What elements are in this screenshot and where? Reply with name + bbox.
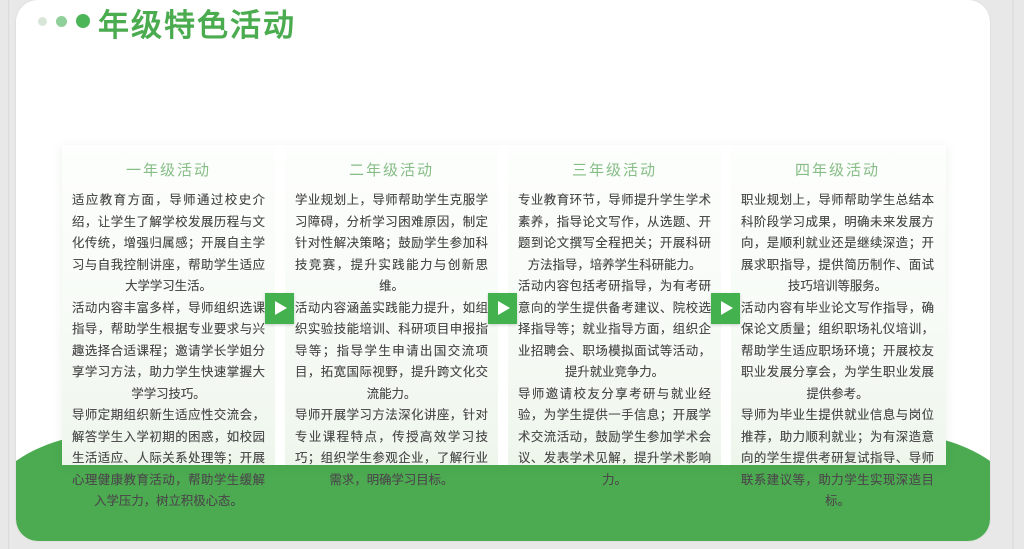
next-arrow-button-1[interactable] <box>265 293 294 324</box>
dot-small-icon <box>38 17 47 26</box>
next-arrow-button-2[interactable] <box>488 293 517 324</box>
grade-1-paragraph-3: 导师定期组织新生适应性交流会，解答学生入学初期的困惑，如校园生活适应、人际关系处… <box>72 405 265 513</box>
grade-column-2: 二年级活动 学业规划上，导师帮助学生克服学习障碍，分析学习困难原因，制定针对性解… <box>285 145 498 465</box>
grade-2-paragraph-3: 导师开展学习方法深化讲座，针对专业课程特点，传授高效学习技巧；组织学生参观企业，… <box>295 405 488 491</box>
slide-canvas: 年级特色活动 一年级活动 适应教育方面，导师通过校史介绍，让学生了解学校发展历程… <box>16 0 990 541</box>
grade-column-2-title: 二年级活动 <box>295 159 488 180</box>
decorative-dots <box>38 14 90 28</box>
grade-4-paragraph-1: 职业规划上，导师帮助学生总结本科阶段学习成果，明确未来发展方向，是顺利就业还是继… <box>741 190 934 298</box>
grade-column-2-body: 学业规划上，导师帮助学生克服学习障碍，分析学习困难原因，制定针对性解决策略；鼓励… <box>295 190 488 491</box>
play-triangle-icon <box>275 301 287 315</box>
grade-3-paragraph-2: 活动内容包括考研指导，为有考研意向的学生提供备考建议、院校选择指导等；就业指导方… <box>518 276 711 384</box>
dot-large-icon <box>76 14 90 28</box>
dot-medium-icon <box>56 16 67 27</box>
next-arrow-button-3[interactable] <box>711 293 740 324</box>
grade-2-paragraph-1: 学业规划上，导师帮助学生克服学习障碍，分析学习困难原因，制定针对性解决策略；鼓励… <box>295 190 488 298</box>
grade-column-1: 一年级活动 适应教育方面，导师通过校史介绍，让学生了解学校发展历程与文化传统，增… <box>62 145 275 465</box>
grade-column-4: 四年级活动 职业规划上，导师帮助学生总结本科阶段学习成果，明确未来发展方向，是顺… <box>731 145 944 465</box>
grade-2-paragraph-2: 活动内容涵盖实践能力提升，如组织实验技能培训、科研项目申报指导等；指导学生申请出… <box>295 298 488 406</box>
play-triangle-icon <box>721 301 733 315</box>
grade-column-3-title: 三年级活动 <box>518 159 711 180</box>
grade-1-paragraph-1: 适应教育方面，导师通过校史介绍，让学生了解学校发展历程与文化传统，增强归属感；开… <box>72 190 265 298</box>
left-page-edge <box>8 0 11 549</box>
grade-column-4-body: 职业规划上，导师帮助学生总结本科阶段学习成果，明确未来发展方向，是顺利就业还是继… <box>741 190 934 513</box>
right-page-edge <box>1012 0 1015 549</box>
grade-column-3-body: 专业教育环节，导师提升学生学术素养，指导论文写作，从选题、开题到论文撰写全程把关… <box>518 190 711 491</box>
grade-column-3: 三年级活动 专业教育环节，导师提升学生学术素养，指导论文写作，从选题、开题到论文… <box>508 145 721 465</box>
page-title: 年级特色活动 <box>98 0 296 54</box>
grade-4-paragraph-3: 导师为毕业生提供就业信息与岗位推荐，助力顺利就业；为有深造意向的学生提供考研复试… <box>741 405 934 513</box>
grade-3-paragraph-1: 专业教育环节，导师提升学生学术素养，指导论文写作，从选题、开题到论文撰写全程把关… <box>518 190 711 276</box>
grade-1-paragraph-2: 活动内容丰富多样，导师组织选课指导，帮助学生根据专业要求与兴趣选择合适课程；邀请… <box>72 298 265 406</box>
slide-header: 年级特色活动 <box>16 0 990 58</box>
grade-column-1-body: 适应教育方面，导师通过校史介绍，让学生了解学校发展历程与文化传统，增强归属感；开… <box>72 190 265 513</box>
grade-column-4-title: 四年级活动 <box>741 159 934 180</box>
grade-column-1-title: 一年级活动 <box>72 159 265 180</box>
grade-4-paragraph-2: 活动内容有毕业论文写作指导，确保论文质量；组织职场礼仪培训，帮助学生适应职场环境… <box>741 298 934 406</box>
grade-3-paragraph-3: 导师邀请校友分享考研与就业经验，为学生提供一手信息；开展学术交流活动，鼓励学生参… <box>518 384 711 492</box>
play-triangle-icon <box>498 301 510 315</box>
